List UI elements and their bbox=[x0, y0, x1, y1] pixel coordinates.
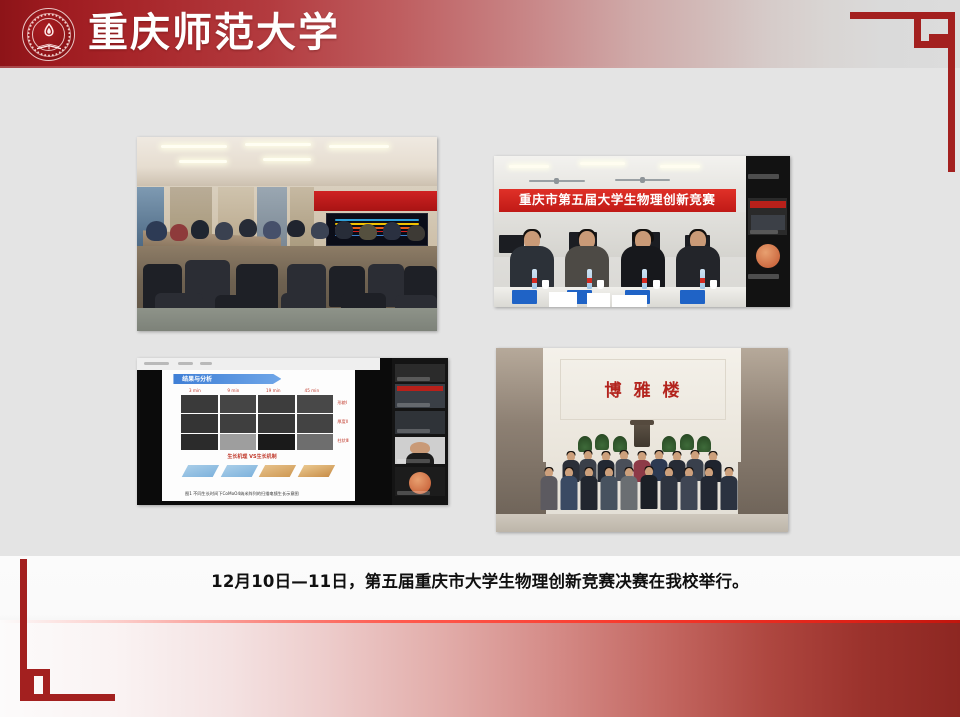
university-seal-icon bbox=[22, 8, 75, 61]
event-banner: 第五届重庆市大学生物理创新竞赛决赛开幕式 bbox=[314, 191, 437, 210]
figure-caption: 图1 不同生长时间下CoMoO4纳米阵列的扫描电镜生长示意图 bbox=[185, 491, 299, 497]
video-thumbnail[interactable] bbox=[395, 437, 445, 463]
photo-opening-ceremony[interactable]: 第五届重庆市大学生物理创新竞赛决赛开幕式 bbox=[137, 137, 437, 331]
corner-ornament-top-right bbox=[830, 0, 960, 175]
column-label: 9 min bbox=[227, 388, 239, 393]
row-label: 形貌Ⅰ bbox=[337, 400, 347, 406]
ceiling-fan-icon bbox=[529, 180, 584, 182]
slide-caption: 12月10日—11日，第五届重庆市大学生物理创新竞赛决赛在我校举行。 bbox=[0, 568, 960, 592]
app-toolbar bbox=[137, 358, 380, 370]
video-thumbnail[interactable] bbox=[395, 384, 445, 408]
competition-banner: 重庆市第五届大学生物理创新竞赛 bbox=[499, 189, 735, 212]
video-conference-sidebar[interactable] bbox=[392, 358, 448, 505]
column-label: 3 min bbox=[189, 388, 201, 393]
photo-judges-panel[interactable]: 重庆市第五届大学生物理创新竞赛 bbox=[494, 156, 790, 307]
corner-ornament-bottom-left bbox=[0, 545, 130, 720]
mechanism-label: 生长机理 VS生长机制 bbox=[227, 453, 276, 460]
building-name-calligraphy: 博雅楼 bbox=[593, 376, 692, 401]
presentation-slide: 结果与分析 3 min 9 min 19 min 45 min 形貌Ⅰ bbox=[162, 370, 355, 501]
column-label: 45 min bbox=[305, 388, 320, 393]
header-banner: 重庆师范大学 bbox=[0, 0, 960, 68]
video-conference-sidebar[interactable] bbox=[746, 156, 790, 307]
seal-book-icon bbox=[36, 41, 62, 50]
photo-group-photo[interactable]: 博雅楼 bbox=[496, 348, 788, 532]
footer-band bbox=[0, 620, 960, 720]
photo-screen-share[interactable]: 结果与分析 3 min 9 min 19 min 45 min 形貌Ⅰ bbox=[137, 358, 448, 505]
video-thumbnail[interactable] bbox=[395, 411, 445, 435]
slide-title-band: 结果与分析 bbox=[173, 374, 281, 384]
video-thumbnail[interactable] bbox=[395, 364, 445, 382]
video-thumbnail[interactable] bbox=[395, 467, 445, 496]
group-of-participants bbox=[531, 429, 753, 517]
column-label: 19 min bbox=[266, 388, 281, 393]
competition-banner-text: 重庆市第五届大学生物理创新竞赛 bbox=[499, 189, 735, 211]
row-label: 厚度Ⅱ bbox=[337, 419, 347, 425]
ceiling-fan-icon bbox=[615, 179, 670, 181]
slide-canvas: 重庆师范大学 第五届重庆市大学生物理创新竞赛决赛开幕式 bbox=[0, 0, 960, 720]
seal-flame-icon bbox=[40, 23, 57, 42]
slide-title: 结果与分析 bbox=[173, 374, 281, 383]
video-thumbnail[interactable] bbox=[748, 198, 787, 234]
participant-avatar[interactable] bbox=[756, 244, 780, 268]
university-name: 重庆师范大学 bbox=[88, 7, 340, 59]
row-label: 柱状Ⅲ bbox=[337, 438, 348, 444]
